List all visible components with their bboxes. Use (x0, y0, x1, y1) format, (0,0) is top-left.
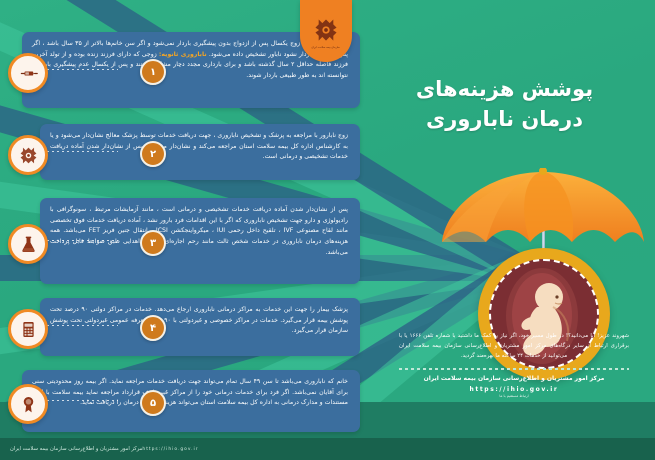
footer-bar: https://ihio.gov.ir مرکز امور مشتریان و … (0, 438, 655, 460)
info-card-2: زوج نابارور با مراجعه به پزشک و تشخیص نا… (40, 124, 360, 180)
footer-bar-url[interactable]: https://ihio.gov.ir (142, 447, 198, 452)
connector-dots-2 (42, 151, 118, 152)
certificate-icon (8, 384, 48, 424)
health-logo-glyph (19, 146, 38, 165)
syringe-glyph (19, 64, 38, 83)
certificate-seal-glyph (19, 395, 38, 414)
connector-dots-4 (42, 325, 118, 326)
number-badge-5: ۵ (140, 390, 166, 416)
org-ribbon: سازمان بیمه سلامت ایران (300, 0, 352, 62)
info-card-3: پس از نشان‌دار شدن آماده دریافت خدمات تش… (40, 198, 360, 284)
footer-org-name: مرکز امور مشتریان و اطلاع‌رسانی سازمان ب… (399, 375, 629, 382)
info-card-2-text: زوج نابارور با مراجعه به پزشک و تشخیص نا… (40, 124, 360, 170)
calculator-icon (8, 309, 48, 349)
info-card-5: خانم که ناباروری می‌باشد تا سن ۴۹ سال تم… (22, 370, 360, 432)
info-card-5-text: خانم که ناباروری می‌باشد تا سن ۴۹ سال تم… (22, 370, 360, 416)
title-line-2: درمان ناباروری (372, 104, 637, 134)
info-card-4: پزشک بیمار را جهت این خدمات به مراکز درم… (40, 298, 360, 356)
footer-url-note: ارتباط مستقیم با ما (399, 394, 629, 398)
infographic-root: سازمان بیمه سلامت ایران پوشش هزینه‌های د… (0, 0, 655, 460)
flask-glyph (19, 235, 38, 254)
number-badge-3: ۳ (140, 230, 166, 256)
org-logo-caption: سازمان بیمه سلامت ایران (311, 46, 339, 49)
health-logo-icon (313, 17, 339, 43)
info-card-4-text: پزشک بیمار را جهت این خدمات به مراکز درم… (40, 298, 360, 344)
syringe-icon (8, 53, 48, 93)
connector-dots-3 (42, 240, 118, 241)
footer-paragraph: شهروند عزیز! آیا می‌دانید؟! در طول مسیر … (399, 331, 629, 361)
health-logo-icon (8, 135, 48, 175)
calculator-glyph (19, 320, 38, 339)
footer-bar-org: مرکز امور مشتریان و اطلاع‌رسانی سازمان ب… (10, 446, 142, 452)
connector-dots-1 (42, 69, 118, 70)
number-badge-4: ۴ (140, 315, 166, 341)
number-badge-2: ۲ (140, 141, 166, 167)
footer-divider (399, 368, 629, 370)
connector-dots-5 (42, 400, 118, 401)
page-title: پوشش هزینه‌های درمان ناباروری (372, 74, 637, 135)
title-line-1: پوشش هزینه‌های (372, 74, 637, 104)
umbrella-icon (438, 168, 648, 260)
info-card-3-text: پس از نشان‌دار شدن آماده دریافت خدمات تش… (40, 198, 360, 265)
flask-icon (8, 224, 48, 264)
card-1-lead-2: ناباروری ثانویه: (159, 51, 207, 58)
footer-url[interactable]: https://ihio.gov.ir (399, 386, 629, 393)
footer-note: شهروند عزیز! آیا می‌دانید؟! در طول مسیر … (399, 331, 629, 398)
number-badge-1: ۱ (140, 59, 166, 85)
